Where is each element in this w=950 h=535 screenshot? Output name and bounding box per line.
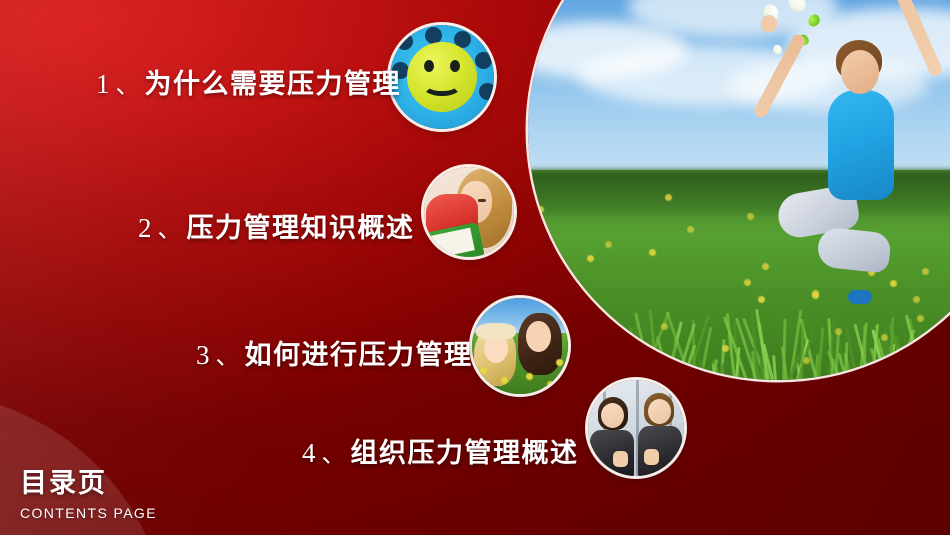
menu-item-1-separator: 、 <box>111 72 145 99</box>
woman-left-hand <box>761 15 777 32</box>
menu-item-2-separator: 、 <box>153 216 187 243</box>
menu-item-4-number: 4 <box>302 438 317 468</box>
menu-item-1-number: 1 <box>96 69 111 99</box>
menu-item-4[interactable]: 4、组织压力管理概述 <box>302 431 579 470</box>
contents-menu: 1、为什么需要压力管理 2、压力管理知识概述 3、如何进行压力管理 4、组织压力… <box>0 0 660 535</box>
woman-shoe <box>848 290 872 304</box>
woman-torso <box>828 90 894 200</box>
footer-title: 目录页 <box>20 461 157 500</box>
menu-item-4-label: 组织压力管理概述 <box>351 438 579 468</box>
menu-item-1[interactable]: 1、为什么需要压力管理 <box>96 62 401 101</box>
menu-item-3-label: 如何进行压力管理 <box>245 340 473 370</box>
menu-item-4-separator: 、 <box>317 441 351 468</box>
menu-item-2-label: 压力管理知识概述 <box>187 213 415 243</box>
menu-item-1-label: 为什么需要压力管理 <box>145 69 402 99</box>
woman-head <box>841 50 879 94</box>
contents-slide: 1、为什么需要压力管理 2、压力管理知识概述 3、如何进行压力管理 4、组织压力… <box>0 0 950 535</box>
menu-item-2[interactable]: 2、压力管理知识概述 <box>138 206 415 245</box>
menu-item-3-number: 3 <box>196 340 211 370</box>
menu-item-3-separator: 、 <box>211 343 245 370</box>
menu-item-3[interactable]: 3、如何进行压力管理 <box>196 333 473 372</box>
menu-item-2-number: 2 <box>138 213 153 243</box>
footer-subtitle: CONTENTS PAGE <box>20 505 157 521</box>
footer: 目录页 CONTENTS PAGE <box>20 461 157 521</box>
